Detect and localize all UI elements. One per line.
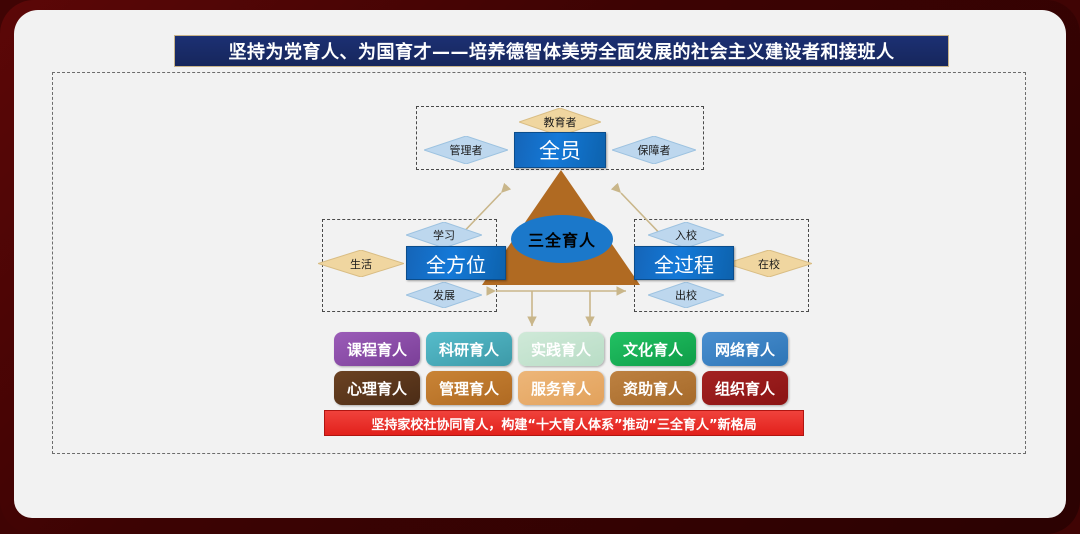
system-cell-xinli-label: 心理育人 bbox=[347, 378, 407, 399]
diamond-guarantor[interactable]: 保障者 bbox=[612, 136, 696, 164]
diamond-life-label: 生活 bbox=[350, 256, 372, 272]
diamond-educator-label: 教育者 bbox=[544, 114, 577, 130]
diamond-at-school-label: 在校 bbox=[758, 256, 780, 272]
diamond-manager[interactable]: 管理者 bbox=[424, 136, 508, 164]
footer-slogan-banner: 坚持家校社协同育人，构建“十大育人体系”推动“三全育人”新格局 bbox=[324, 410, 804, 436]
diamond-study-label: 学习 bbox=[433, 227, 455, 243]
system-cell-zuzhi-label: 组织育人 bbox=[715, 378, 775, 399]
slide-title-text: 坚持为党育人、为国育才——培养德智体美劳全面发展的社会主义建设者和接班人 bbox=[229, 38, 895, 64]
system-cell-wangluo-label: 网络育人 bbox=[715, 339, 775, 360]
system-cell-wenhua[interactable]: 文化育人 bbox=[610, 332, 696, 366]
diamond-entering-school-label: 入校 bbox=[675, 227, 697, 243]
slide-canvas: 坚持为党育人、为国育才——培养德智体美劳全面发展的社会主义建设者和接班人 bbox=[14, 10, 1066, 518]
system-cell-zizhu-label: 资助育人 bbox=[623, 378, 683, 399]
diamond-manager-label: 管理者 bbox=[450, 142, 483, 158]
system-cell-guanli-label: 管理育人 bbox=[439, 378, 499, 399]
diamond-development-label: 发展 bbox=[433, 287, 455, 303]
ten-systems-row-1: 课程育人 科研育人 实践育人 文化育人 网络育人 bbox=[334, 332, 794, 366]
diamond-study[interactable]: 学习 bbox=[406, 222, 482, 248]
system-cell-zuzhi[interactable]: 组织育人 bbox=[702, 371, 788, 405]
slide-title-banner: 坚持为党育人、为国育才——培养德智体美劳全面发展的社会主义建设者和接班人 bbox=[174, 35, 949, 67]
system-cell-xinli[interactable]: 心理育人 bbox=[334, 371, 420, 405]
core-box-quanyuan-label: 全员 bbox=[539, 135, 581, 165]
system-cell-shijian[interactable]: 实践育人 bbox=[518, 332, 604, 366]
ten-systems-grid: 课程育人 科研育人 实践育人 文化育人 网络育人 心理育人 bbox=[334, 332, 794, 412]
system-cell-zizhu[interactable]: 资助育人 bbox=[610, 371, 696, 405]
diamond-entering-school[interactable]: 入校 bbox=[648, 222, 724, 248]
diamond-guarantor-label: 保障者 bbox=[638, 142, 671, 158]
system-cell-fuwu-label: 服务育人 bbox=[531, 378, 591, 399]
diamond-leaving-school-label: 出校 bbox=[675, 287, 697, 303]
system-cell-kecheng[interactable]: 课程育人 bbox=[334, 332, 420, 366]
central-ellipse-label: 三全育人 bbox=[528, 227, 596, 251]
core-box-quanfangwei-label: 全方位 bbox=[426, 249, 486, 278]
slide-root: 坚持为党育人、为国育才——培养德智体美劳全面发展的社会主义建设者和接班人 bbox=[0, 0, 1080, 534]
core-box-quanfangwei[interactable]: 全方位 bbox=[406, 246, 506, 280]
system-cell-keyan[interactable]: 科研育人 bbox=[426, 332, 512, 366]
footer-slogan-text: 坚持家校社协同育人，构建“十大育人体系”推动“三全育人”新格局 bbox=[371, 414, 756, 433]
system-cell-keyan-label: 科研育人 bbox=[439, 339, 499, 360]
system-cell-wenhua-label: 文化育人 bbox=[623, 339, 683, 360]
core-box-quanguocheng[interactable]: 全过程 bbox=[634, 246, 734, 280]
diamond-development[interactable]: 发展 bbox=[406, 282, 482, 308]
diamond-leaving-school[interactable]: 出校 bbox=[648, 282, 724, 308]
system-cell-fuwu[interactable]: 服务育人 bbox=[518, 371, 604, 405]
core-box-quanyuan[interactable]: 全员 bbox=[514, 132, 606, 168]
diamond-life[interactable]: 生活 bbox=[318, 250, 404, 277]
system-cell-shijian-label: 实践育人 bbox=[531, 339, 591, 360]
diamond-at-school[interactable]: 在校 bbox=[726, 250, 812, 277]
system-cell-guanli[interactable]: 管理育人 bbox=[426, 371, 512, 405]
ten-systems-row-2: 心理育人 管理育人 服务育人 资助育人 组织育人 bbox=[334, 371, 794, 405]
system-cell-kecheng-label: 课程育人 bbox=[347, 339, 407, 360]
core-box-quanguocheng-label: 全过程 bbox=[654, 249, 714, 278]
system-cell-wangluo[interactable]: 网络育人 bbox=[702, 332, 788, 366]
central-ellipse: 三全育人 bbox=[511, 215, 613, 263]
